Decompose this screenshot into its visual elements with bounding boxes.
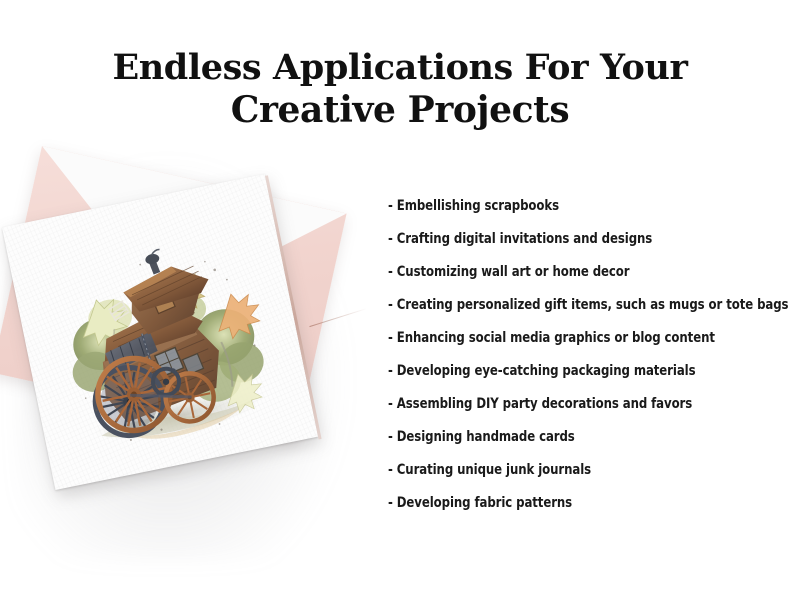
- greeting-card: [2, 174, 318, 490]
- list-item: - Crafting digital invitations and desig…: [388, 223, 756, 256]
- list-item: - Creating personalized gift items, such…: [388, 289, 756, 322]
- list-item: - Enhancing social media graphics or blo…: [388, 322, 756, 355]
- page-title-line-1: Endless Applications For Your: [0, 46, 800, 89]
- list-item: - Curating unique junk journals: [388, 454, 756, 487]
- list-item: - Designing handmade cards: [388, 421, 756, 454]
- list-item: - Embellishing scrapbooks: [388, 190, 756, 223]
- list-item: - Assembling DIY party decorations and f…: [388, 388, 756, 421]
- promo-graphic-canvas: Endless Applications For Your Creative P…: [0, 0, 800, 600]
- list-item: - Customizing wall art or home decor: [388, 256, 756, 289]
- list-item: - Developing eye-catching packaging mate…: [388, 355, 756, 388]
- greeting-card-mockup: [0, 120, 400, 560]
- list-item: - Developing fabric patterns: [388, 487, 756, 520]
- applications-list: - Embellishing scrapbooks - Crafting dig…: [388, 190, 788, 520]
- watercolor-wagon-house-illustration: [39, 227, 287, 465]
